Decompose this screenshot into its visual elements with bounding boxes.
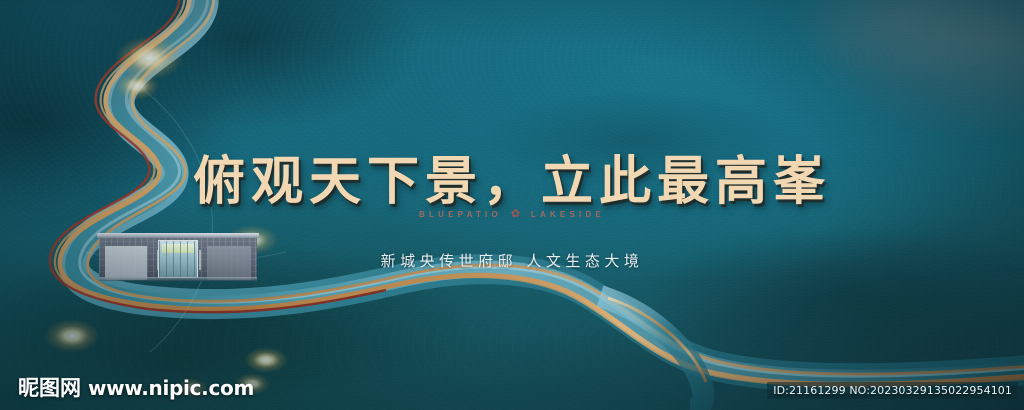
subtitle-text: 新城央传世府邸 人文生态大境 (0, 250, 1024, 271)
brand-word-left: BLUEPATIO (419, 210, 502, 219)
watermark-site-url: www.nipic.com (88, 376, 254, 400)
poster-canvas: 俯观天下景，立此最高峯 BLUEPATIO ✿ LAKESIDE 新城央传世府邸… (0, 0, 1024, 410)
english-brand-line: BLUEPATIO ✿ LAKESIDE (0, 209, 1024, 220)
flower-ornament-icon: ✿ (511, 209, 522, 220)
watermark-id-badge: ID:21161299 NO:20230329135022954101 (767, 382, 1018, 399)
brand-word-right: LAKESIDE (531, 210, 605, 219)
headline-text: 俯观天下景，立此最高峯 (0, 139, 1024, 214)
watermark-site-name-cn: 昵图网 (18, 372, 81, 402)
watermark-logo[interactable]: 昵图网 www.nipic.com (18, 372, 254, 402)
